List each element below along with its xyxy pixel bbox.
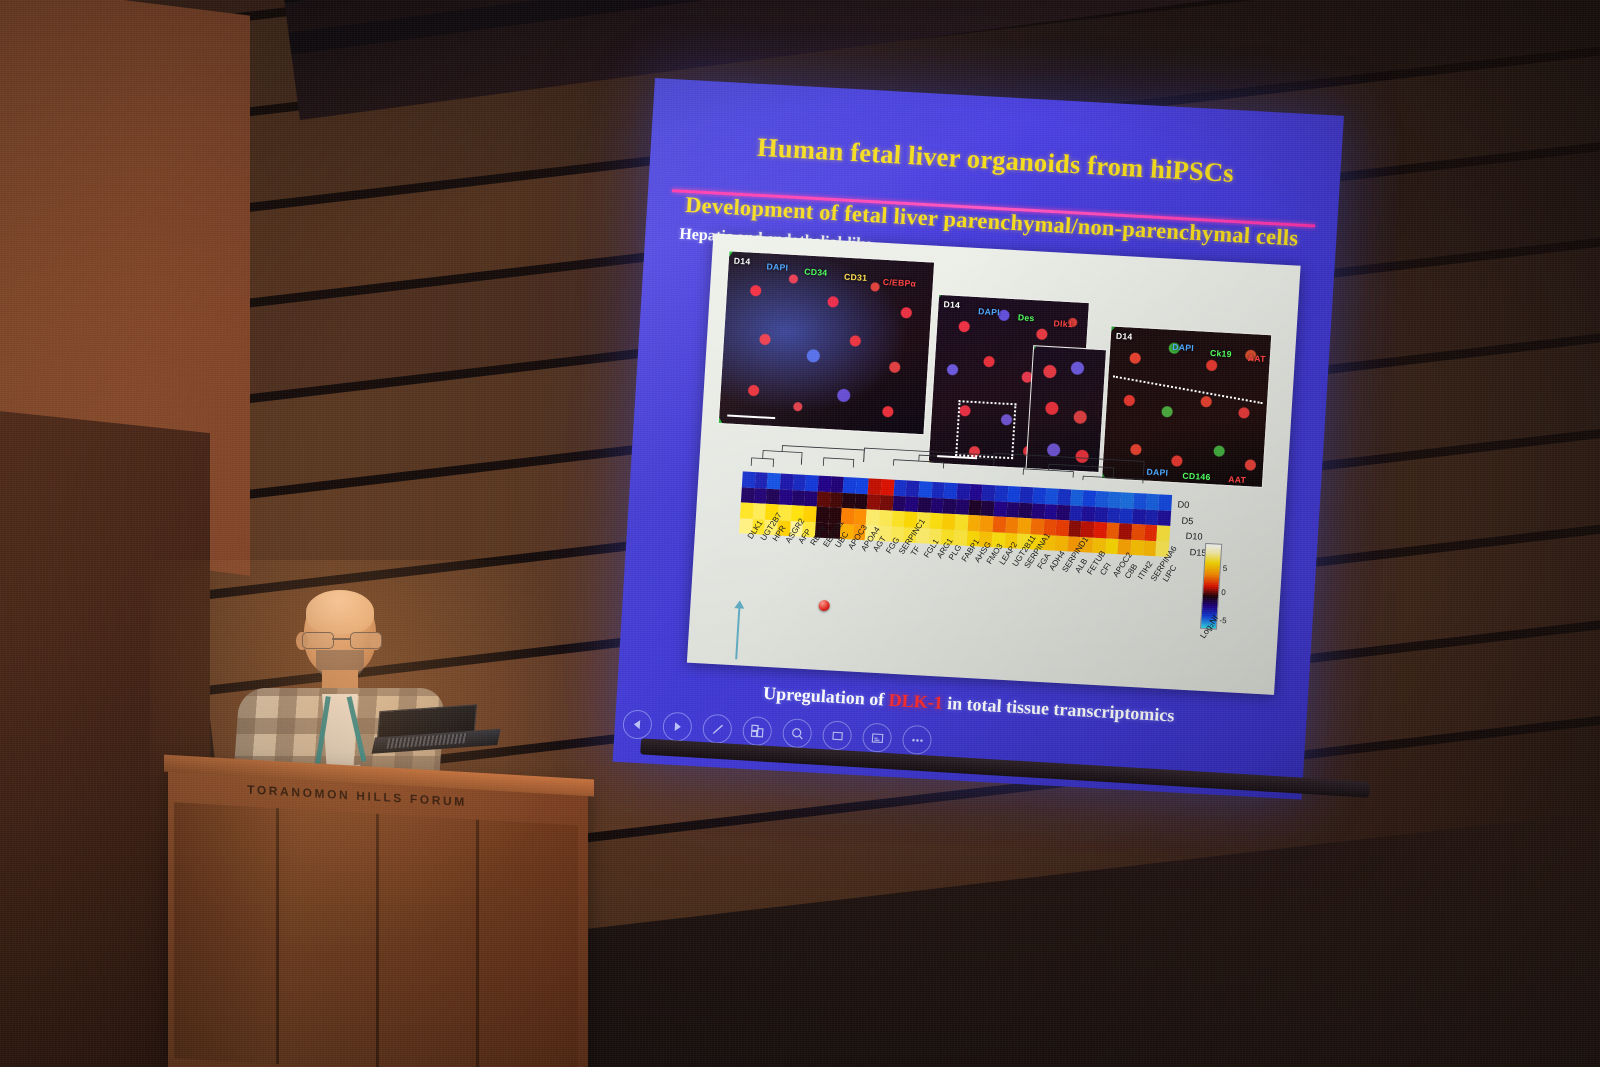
heatmap-cell <box>880 495 894 511</box>
podium: TORANOMON HILLS FORUM <box>168 768 588 1067</box>
presentation-slide: Human fetal liver organoids from hiPSCs … <box>613 78 1344 800</box>
heatmap-cell <box>754 472 768 488</box>
heatmap-cell <box>1006 501 1020 517</box>
heatmap-cell <box>1107 507 1121 523</box>
heatmap-cell <box>879 510 893 526</box>
heatmap-cell <box>805 475 819 491</box>
colorbar-tick: 0 <box>1221 588 1226 597</box>
micrograph-label: D14 <box>1116 331 1133 342</box>
heatmap-cell <box>929 513 943 529</box>
heatmap-cell <box>866 509 880 525</box>
heatmap-cell <box>842 492 856 508</box>
heatmap-cell <box>791 490 805 506</box>
micrograph-label: D14 <box>734 256 751 267</box>
heatmap-cell <box>993 501 1007 517</box>
heatmap-cell <box>1145 509 1159 525</box>
heatmap-cell <box>1094 506 1108 522</box>
heatmap-cell <box>1108 492 1122 508</box>
micrograph-label: Des <box>1018 312 1035 323</box>
heatmap-cell <box>1133 493 1147 509</box>
heatmap-cell <box>919 481 933 497</box>
heatmap-cell <box>1106 523 1120 539</box>
heatmap-cell <box>1132 508 1146 524</box>
micrograph-label: CD146 <box>1182 471 1211 483</box>
micrograph-label: Ck19 <box>1210 348 1232 359</box>
heatmap-cell <box>955 514 969 530</box>
heatmap-cell <box>742 471 756 487</box>
heatmap-cell <box>1094 522 1108 538</box>
heatmap-cell <box>905 496 919 512</box>
heatmap-cell <box>1095 491 1109 507</box>
heatmap-cell <box>766 488 780 504</box>
heatmap-cell <box>891 511 905 527</box>
dotted-outline <box>1113 375 1263 404</box>
heatmap-cell <box>1070 489 1084 505</box>
heatmap-cell <box>843 477 857 493</box>
heatmap-cell <box>1082 506 1096 522</box>
heatmap-cell <box>1159 494 1173 510</box>
heatmap-cell <box>893 480 907 496</box>
heatmap-cell <box>803 506 817 522</box>
heatmap-cell <box>944 483 958 499</box>
micrograph-label: CD34 <box>804 267 828 278</box>
heatmap-cell <box>855 478 869 494</box>
heatmap-cell <box>1058 489 1072 505</box>
heatmap-cell <box>1143 540 1157 556</box>
timepoint-label: D0 <box>1177 499 1189 510</box>
conference-hall-photo: Human fetal liver organoids from hiPSCs … <box>0 0 1600 1067</box>
heatmap-cell <box>854 509 868 525</box>
heatmap-cell <box>969 484 983 500</box>
heatmap-cell <box>779 489 793 505</box>
slide-title-line1: Human fetal liver organoids from hiPSCs <box>662 127 1329 194</box>
heatmap-cell <box>943 498 957 514</box>
heatmap-cell <box>992 516 1006 532</box>
micrograph-label: DAPI <box>1146 467 1168 478</box>
heatmap-cell <box>818 476 832 492</box>
heatmap-cell <box>792 474 806 490</box>
footer-highlight: DLK-1 <box>888 690 943 713</box>
heatmap-cell <box>1121 492 1135 508</box>
heatmap-cell <box>892 495 906 511</box>
heatmap-cell <box>957 483 971 499</box>
blank-slide-button[interactable] <box>822 720 853 751</box>
heatmap-cell <box>942 513 956 529</box>
heatmap-cell <box>1055 535 1069 551</box>
micrograph-hepatic-endothelial: D14 DAPI CD34 CD31 C/EBPα <box>718 250 935 435</box>
heatmap-cell <box>741 487 755 503</box>
next-slide-button[interactable] <box>662 711 693 742</box>
heatmap-cell <box>1158 510 1172 526</box>
heatmap-cell <box>816 507 830 523</box>
heatmap-cell <box>1146 494 1160 510</box>
heatmap-cell <box>1056 520 1070 536</box>
heatmap-cell <box>1068 520 1082 536</box>
micrograph-label: D14 <box>943 299 960 310</box>
heatmap-cell <box>1083 490 1097 506</box>
heatmap-cell <box>1057 504 1071 520</box>
subtitles-button[interactable] <box>862 722 893 753</box>
heatmap-cell <box>830 476 844 492</box>
heatmap-cell <box>980 516 994 532</box>
micrograph-label: DAPI <box>1172 342 1194 353</box>
heatmap-cell <box>1032 487 1046 503</box>
heatmap-cell <box>906 480 920 496</box>
timepoint-label: D10 <box>1185 531 1202 542</box>
heatmap-cell <box>956 499 970 515</box>
heatmap-cell <box>1157 525 1171 541</box>
heatmap-cell <box>1130 539 1144 555</box>
heatmap-cell <box>1119 523 1133 539</box>
inset-selection-box <box>955 400 1016 459</box>
heatmap-cell <box>881 479 895 495</box>
all-slides-button[interactable] <box>742 716 773 747</box>
micrograph-label: C/EBPα <box>883 277 917 289</box>
heatmap-cell <box>1105 538 1119 554</box>
heatmap-cell <box>868 478 882 494</box>
heatmap-cell <box>754 488 768 504</box>
heatmap-cell <box>780 473 794 489</box>
heatmap-cell <box>981 500 995 516</box>
heatmap-cell <box>967 515 981 531</box>
speaker-scalp <box>306 590 374 634</box>
colorbar-tick: 5 <box>1222 564 1227 573</box>
heatmap-cell <box>740 502 754 518</box>
heatmap-cell <box>1020 487 1034 503</box>
heatmap-cell <box>1019 502 1033 518</box>
micrograph-label: AAT <box>1228 474 1247 485</box>
heatmap-cell <box>1005 517 1019 533</box>
heatmap-cell <box>1018 518 1032 534</box>
heatmap-cell <box>1120 508 1134 524</box>
more-options-button[interactable] <box>902 725 933 756</box>
heatmap-cell <box>1131 524 1145 540</box>
micrograph-label: Dlk1 <box>1053 318 1073 329</box>
heatmap-cell <box>817 491 831 507</box>
heatmap-cell <box>753 503 767 519</box>
heatmap-cell <box>1044 504 1058 520</box>
pen-tool-button[interactable] <box>702 714 733 745</box>
heatmap-cell <box>767 473 781 489</box>
heatmap-cell <box>968 499 982 515</box>
heatmap-cell <box>994 485 1008 501</box>
heatmap-cell <box>867 494 881 510</box>
heatmap-cell <box>930 497 944 513</box>
heatmap-cell <box>1007 486 1021 502</box>
heatmap-cell <box>804 490 818 506</box>
timepoint-label: D5 <box>1181 515 1193 526</box>
slide-title: Human fetal liver organoids from hiPSCs <box>662 127 1329 194</box>
heatmap-cell <box>982 485 996 501</box>
zoom-slide-button[interactable] <box>782 718 813 749</box>
colorbar-tick: -5 <box>1219 616 1227 625</box>
micrograph-label: DAPI <box>978 306 1000 317</box>
heatmap-cell <box>1144 525 1158 541</box>
laptop-keyboard <box>386 733 468 749</box>
projection-screen: Human fetal liver organoids from hiPSCs … <box>613 78 1344 800</box>
previous-slide-button[interactable] <box>622 709 653 740</box>
footer-suffix: in total tissue transcriptomics <box>942 693 1175 726</box>
heatmap-cell <box>1069 505 1083 521</box>
heatmap-cell <box>918 497 932 513</box>
heatmap-cell <box>1045 488 1059 504</box>
micrograph-label: AAT <box>1247 353 1266 364</box>
speaker-glasses <box>302 632 380 647</box>
heatmap-cell <box>1030 518 1044 534</box>
heatmap-cell <box>931 482 945 498</box>
footer-prefix: Upregulation of <box>763 683 890 710</box>
heatmap-cell <box>1031 503 1045 519</box>
dlk1-arrow-head <box>734 600 744 609</box>
heatmap-cell <box>829 492 843 508</box>
heatmap-cell <box>855 493 869 509</box>
micrograph-label: DAPI <box>766 261 788 272</box>
micrograph-label: CD31 <box>844 272 868 283</box>
